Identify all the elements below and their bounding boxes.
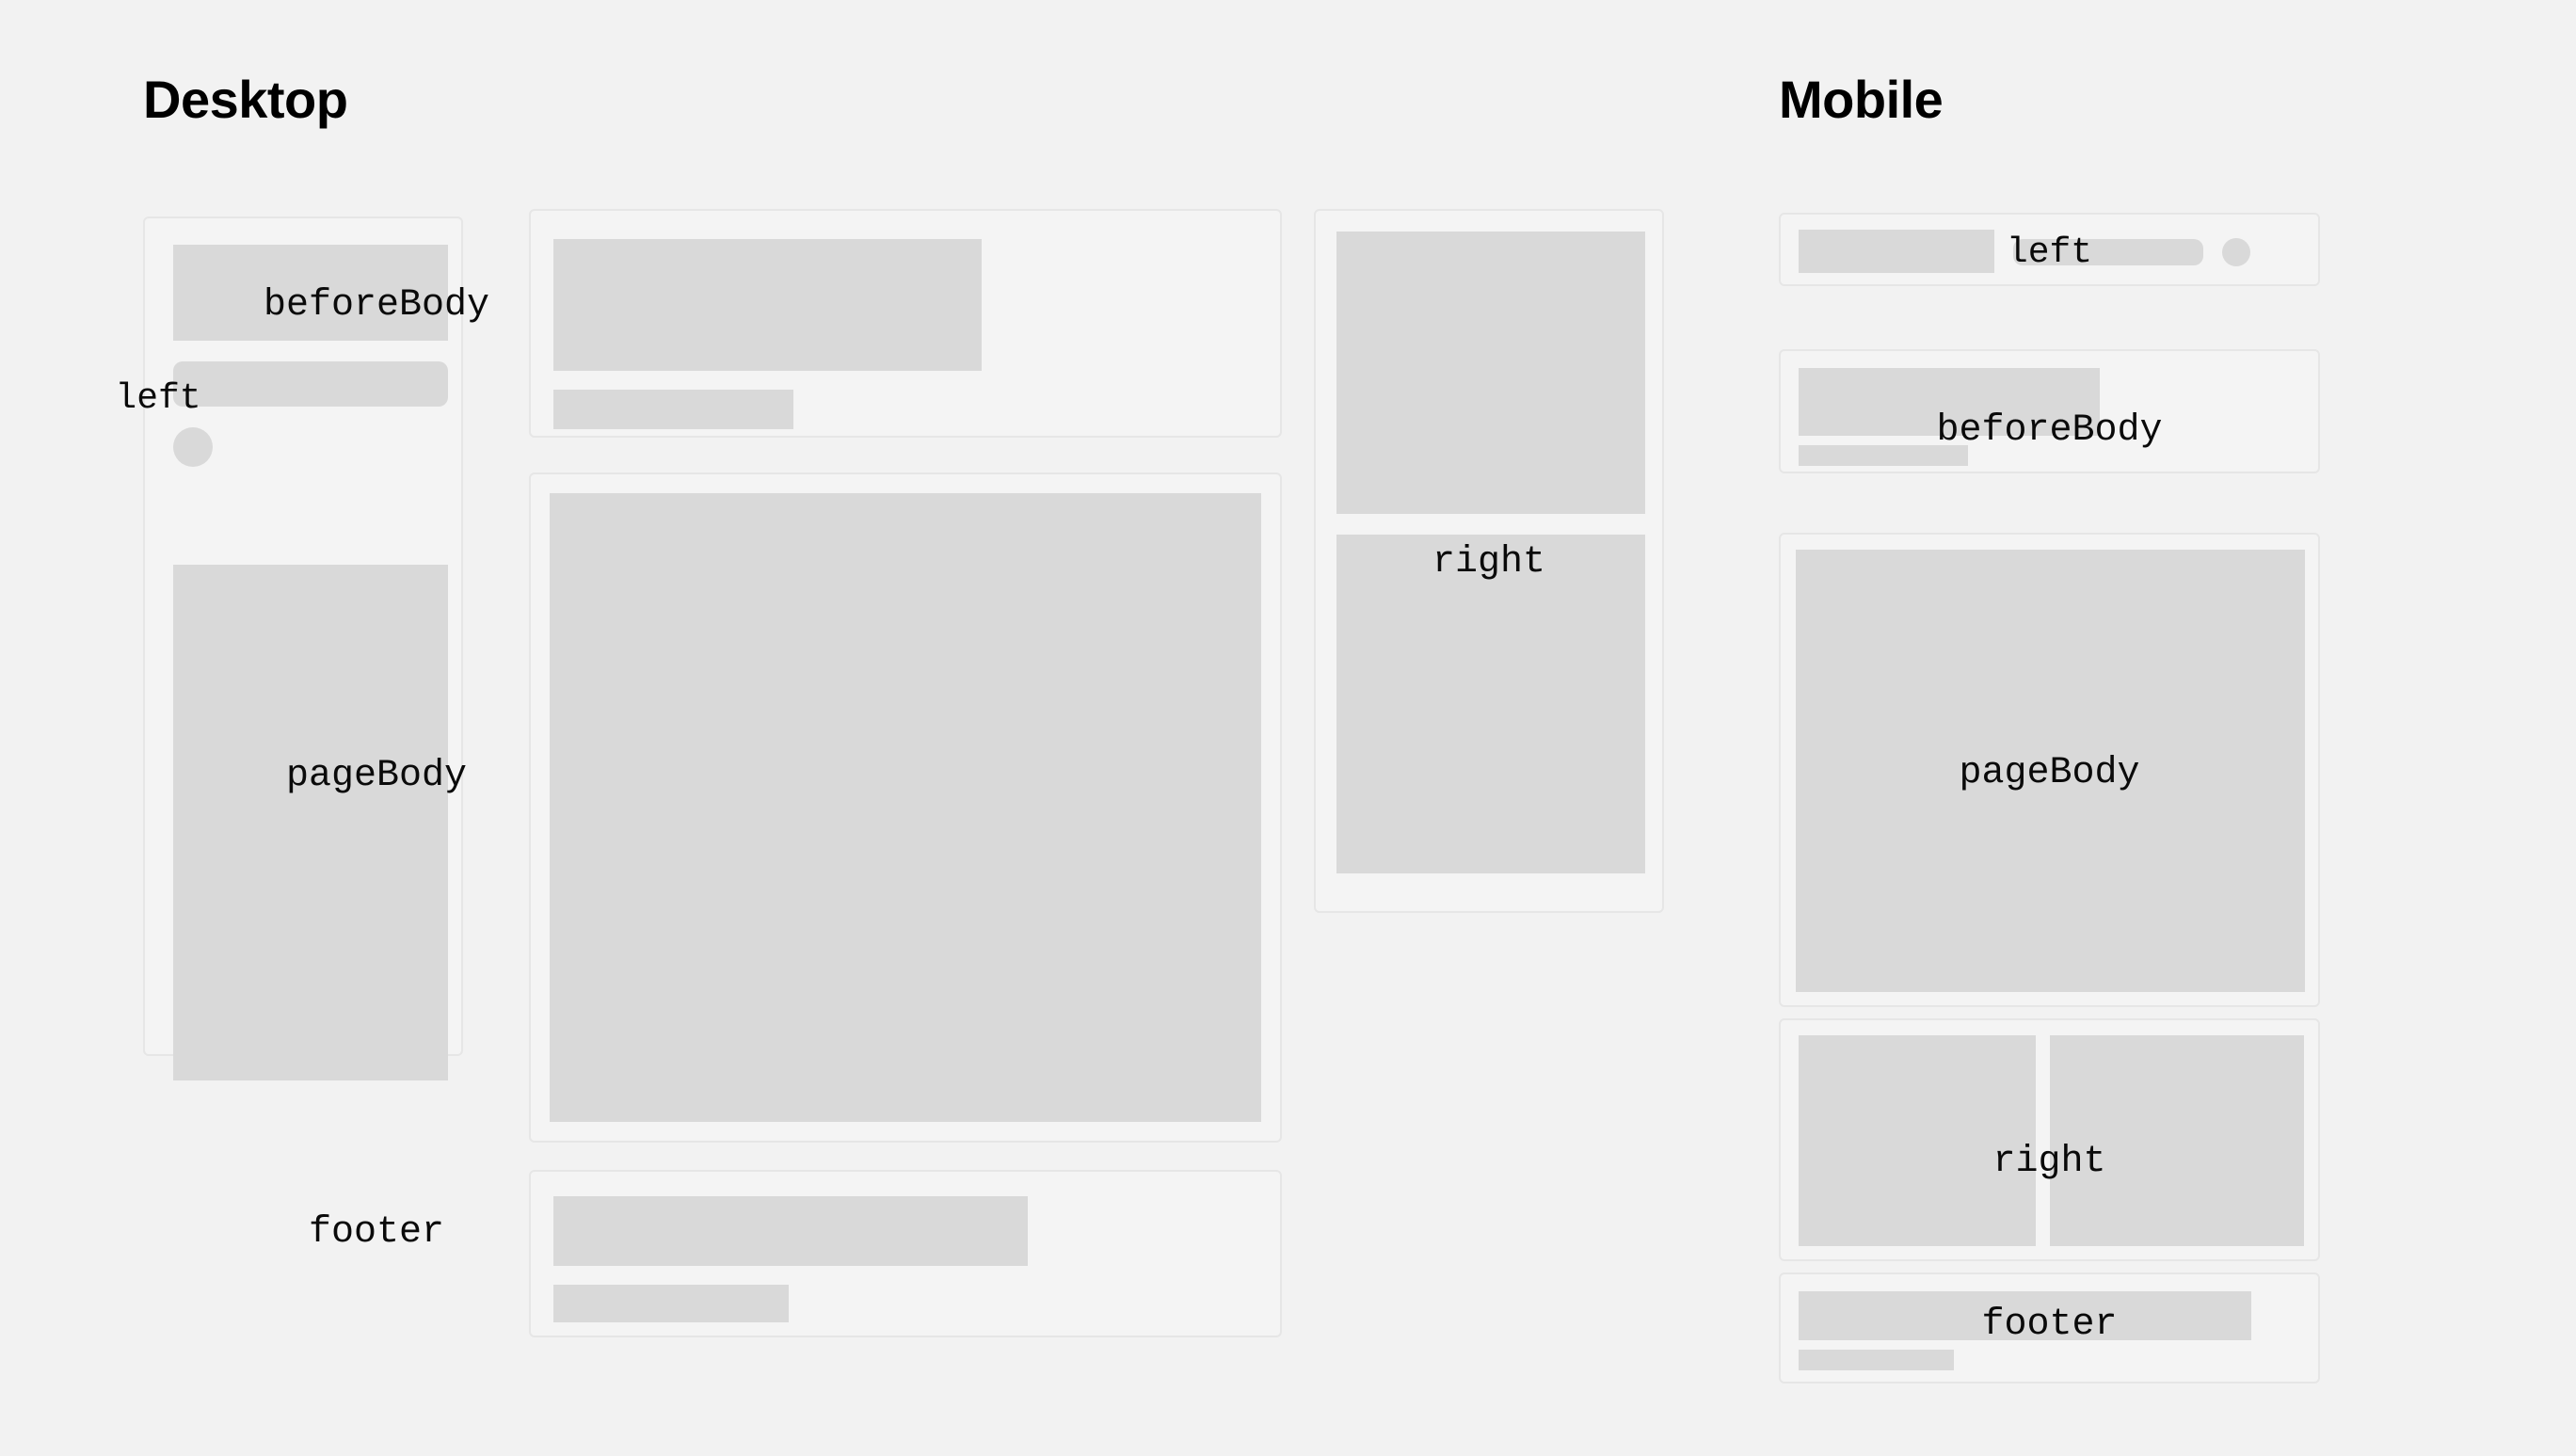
mobile-beforebody-wide-block <box>1799 368 2100 436</box>
mobile-left-avatar-dot-icon <box>2222 238 2250 266</box>
desktop-footer-region-card[interactable] <box>529 1170 1282 1337</box>
desktop-section-title: Desktop <box>143 73 347 126</box>
desktop-left-avatar-dot-icon <box>173 427 213 467</box>
desktop-footer-short-bar <box>553 1285 789 1322</box>
mobile-pagebody-region-card[interactable] <box>1779 533 2320 1007</box>
mobile-beforebody-region-card[interactable] <box>1779 349 2320 473</box>
layout-preview-stage: Desktop left beforeBody pageBody footer … <box>0 0 2576 1456</box>
mobile-footer-region-card[interactable] <box>1779 1272 2320 1384</box>
desktop-beforebody-wide-block <box>553 239 982 371</box>
mobile-right-region-card[interactable] <box>1779 1018 2320 1261</box>
desktop-footer-wide-bar <box>553 1196 1028 1266</box>
mobile-right-left-block <box>1799 1035 2036 1246</box>
desktop-beforebody-short-bar <box>553 390 793 429</box>
desktop-left-pill-bar <box>173 361 448 407</box>
mobile-left-square-block <box>1799 230 1994 273</box>
desktop-left-header-block <box>173 245 448 341</box>
mobile-section-title: Mobile <box>1779 73 1943 126</box>
mobile-right-right-block <box>2050 1035 2304 1246</box>
mobile-footer-wide-bar <box>1799 1291 2251 1340</box>
mobile-pagebody-full-block <box>1796 550 2305 992</box>
desktop-left-region-card[interactable] <box>143 216 463 1056</box>
desktop-pagebody-full-block <box>550 493 1261 1122</box>
mobile-left-region-card[interactable] <box>1779 213 2320 286</box>
desktop-right-lower-block <box>1336 535 1645 873</box>
desktop-pagebody-region-card[interactable] <box>529 472 1282 1143</box>
desktop-right-region-card[interactable] <box>1314 209 1664 913</box>
mobile-beforebody-short-bar <box>1799 445 1968 466</box>
desktop-left-tall-block <box>173 565 448 1080</box>
desktop-right-upper-block <box>1336 232 1645 514</box>
mobile-left-pill-bar <box>2013 239 2203 265</box>
mobile-footer-short-bar <box>1799 1350 1954 1370</box>
desktop-beforebody-region-card[interactable] <box>529 209 1282 438</box>
